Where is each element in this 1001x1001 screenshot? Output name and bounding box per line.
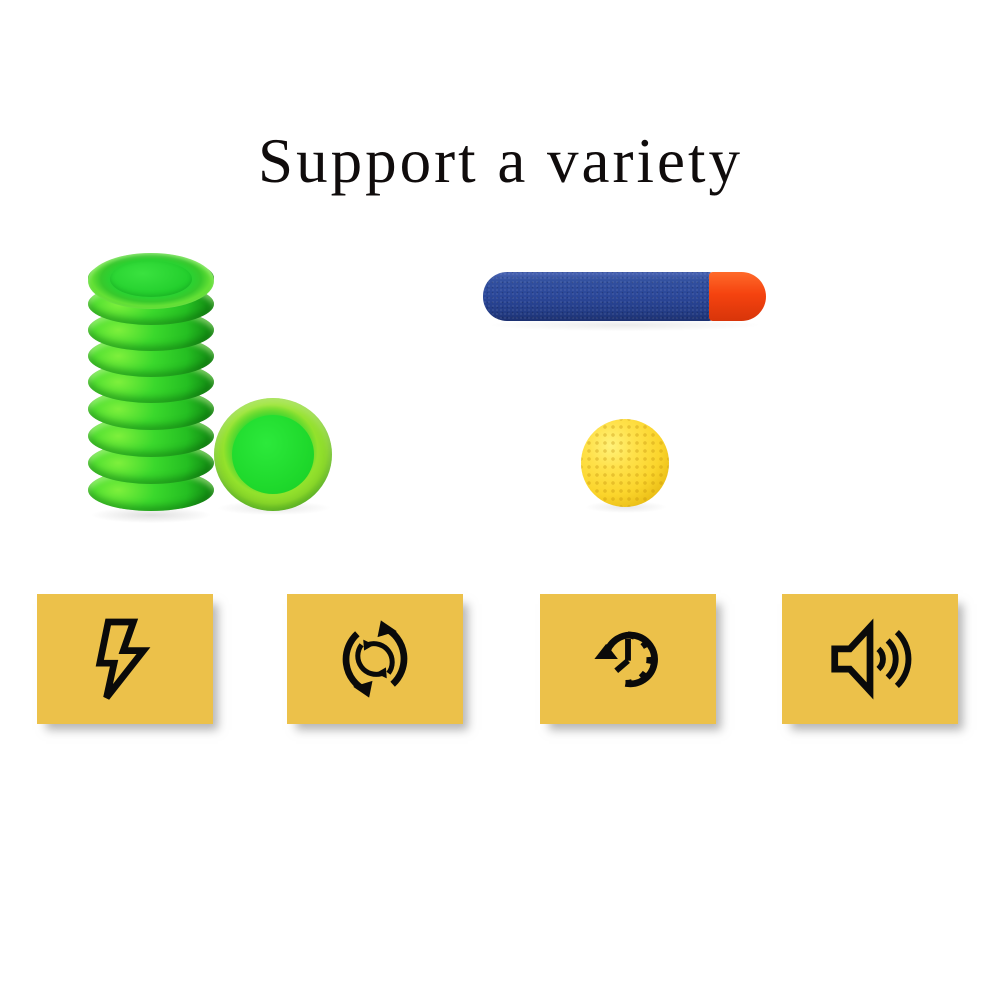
recycle-arrows-icon [333,617,417,701]
page-title: Support a variety [0,126,1001,196]
feature-card-reusable[interactable] [287,594,463,724]
foam-ball [581,419,669,507]
speaker-volume-icon [828,617,912,701]
clock-rewind-icon [586,617,670,701]
product-showcase [0,235,1001,535]
dart-body [483,272,713,321]
foam-dart [483,272,766,321]
feature-card-rapid-fire[interactable] [540,594,716,724]
foam-disc-single [214,398,332,511]
product-feature-banner: Support a variety [0,0,1001,1001]
dart-tip [709,272,766,321]
foam-disc-stack [88,253,214,536]
feature-card-power[interactable] [37,594,213,724]
feature-card-sound[interactable] [782,594,958,724]
feature-card-row [0,594,1001,734]
disc-stack-top-face [88,253,214,309]
lightning-bolt-icon [83,617,167,701]
